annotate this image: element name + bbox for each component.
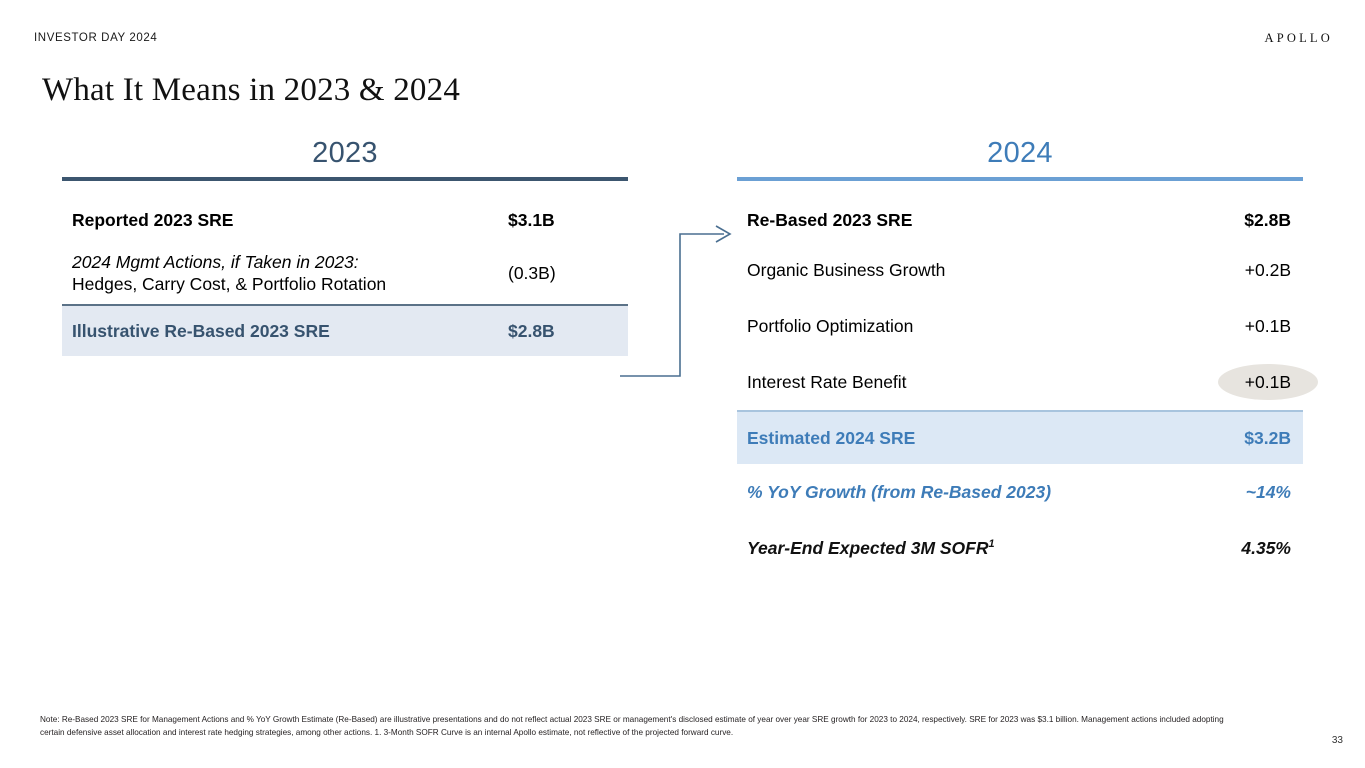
row-value: +0.1B <box>1245 372 1291 392</box>
footnote-marker: 1 <box>989 538 995 550</box>
row-label: 2024 Mgmt Actions, if Taken in 2023: Hed… <box>72 251 508 296</box>
column-2024-rows: Re-Based 2023 SRE $2.8B Organic Business… <box>737 194 1303 576</box>
column-2024-rule <box>737 177 1303 181</box>
row-label: Illustrative Re-Based 2023 SRE <box>72 320 508 343</box>
page-number: 33 <box>1332 735 1343 746</box>
table-row: 2024 Mgmt Actions, if Taken in 2023: Hed… <box>62 242 628 304</box>
table-row-highlighted: Illustrative Re-Based 2023 SRE $2.8B <box>62 304 628 356</box>
row-value: $3.2B <box>1191 428 1291 449</box>
table-row: Interest Rate Benefit +0.1B <box>737 354 1303 410</box>
footnote-text: Note: Re-Based 2023 SRE for Management A… <box>40 714 1250 739</box>
column-2024-heading: 2024 <box>737 138 1303 168</box>
row-label-line-2: Hedges, Carry Cost, & Portfolio Rotation <box>72 273 508 295</box>
column-2023: 2023 Reported 2023 SRE $3.1B 2024 Mgmt A… <box>62 138 628 356</box>
row-label: % YoY Growth (from Re-Based 2023) <box>747 481 1191 504</box>
row-label: Organic Business Growth <box>747 259 1191 282</box>
row-value: $3.1B <box>508 210 616 231</box>
row-value: 4.35% <box>1191 538 1291 559</box>
row-label: Portfolio Optimization <box>747 315 1191 338</box>
table-row: Portfolio Optimization +0.1B <box>737 298 1303 354</box>
apollo-logo: APOLLO <box>1264 31 1333 46</box>
row-label-text: Year-End Expected 3M SOFR <box>747 538 989 558</box>
row-value: $2.8B <box>1191 210 1291 231</box>
column-2023-rule <box>62 177 628 181</box>
page-title: What It Means in 2023 & 2024 <box>42 72 460 109</box>
table-row: Re-Based 2023 SRE $2.8B <box>737 194 1303 242</box>
column-2023-rows: Reported 2023 SRE $3.1B 2024 Mgmt Action… <box>62 194 628 356</box>
row-value: (0.3B) <box>508 263 616 284</box>
row-label: Estimated 2024 SRE <box>747 427 1191 450</box>
row-value: +0.2B <box>1191 260 1291 281</box>
table-row: Organic Business Growth +0.2B <box>737 242 1303 298</box>
row-value: +0.1B <box>1191 316 1291 337</box>
ellipse-highlight: +0.1B <box>1245 372 1291 393</box>
row-label: Interest Rate Benefit <box>747 371 1191 394</box>
column-2024: 2024 Re-Based 2023 SRE $2.8B Organic Bus… <box>737 138 1303 576</box>
eyebrow-label: INVESTOR DAY 2024 <box>34 32 157 44</box>
row-value-highlighted: +0.1B <box>1191 372 1291 393</box>
table-row: % YoY Growth (from Re-Based 2023) ~14% <box>737 464 1303 520</box>
row-value: ~14% <box>1191 482 1291 503</box>
table-row: Year-End Expected 3M SOFR1 4.35% <box>737 520 1303 576</box>
row-label: Reported 2023 SRE <box>72 209 508 232</box>
table-row: Reported 2023 SRE $3.1B <box>62 194 628 242</box>
row-label: Year-End Expected 3M SOFR1 <box>747 537 1191 560</box>
table-row-highlighted: Estimated 2024 SRE $3.2B <box>737 410 1303 464</box>
column-2023-heading: 2023 <box>62 138 628 168</box>
row-label-line-1: 2024 Mgmt Actions, if Taken in 2023: <box>72 251 508 273</box>
row-label: Re-Based 2023 SRE <box>747 209 1191 232</box>
elbow-arrow-icon <box>620 218 750 393</box>
row-value: $2.8B <box>508 321 616 342</box>
